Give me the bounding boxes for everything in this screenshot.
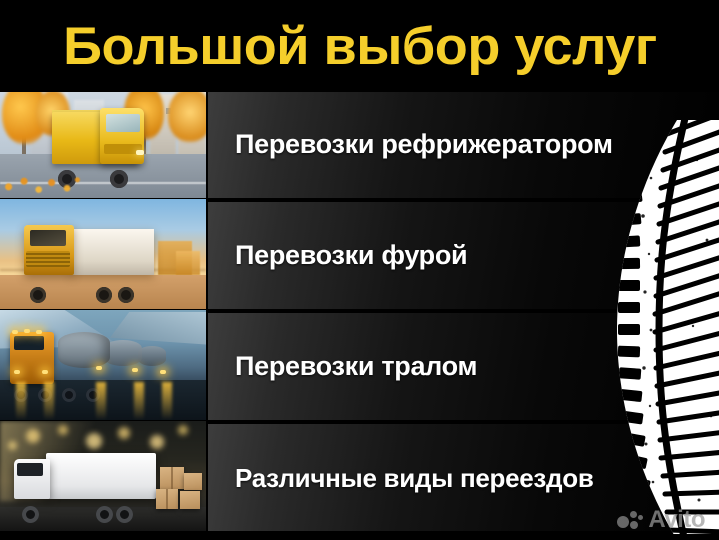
service-photo-semi-truck (0, 199, 206, 309)
service-photo-refrigerator-truck (0, 88, 206, 198)
service-photo-heavy-haul-convoy (0, 310, 206, 420)
poster-title: Большой выбор услуг (63, 20, 657, 73)
service-label: Различные виды переездов (208, 465, 594, 491)
service-row-lowboy[interactable]: Перевозки тралом (208, 313, 719, 420)
service-row-full-truck[interactable]: Перевозки фурой (208, 202, 719, 309)
avito-brand-text: Avito (648, 508, 705, 532)
service-poster: Большой выбор услуг (0, 0, 719, 540)
service-photo-moving-truck (0, 421, 206, 531)
avito-watermark: Avito (617, 508, 705, 532)
bottom-edge (0, 534, 719, 540)
avito-dots-logo-icon (617, 510, 643, 530)
service-list: Перевозки рефрижератором Перевозки фурой… (208, 88, 719, 536)
service-label: Перевозки тралом (208, 353, 477, 380)
poster-header: Большой выбор услуг (0, 0, 719, 92)
service-label: Перевозки рефрижератором (208, 131, 613, 158)
service-label: Перевозки фурой (208, 242, 467, 269)
service-row-refrigerator[interactable]: Перевозки рефрижератором (208, 91, 719, 198)
service-photo-column (0, 88, 206, 536)
